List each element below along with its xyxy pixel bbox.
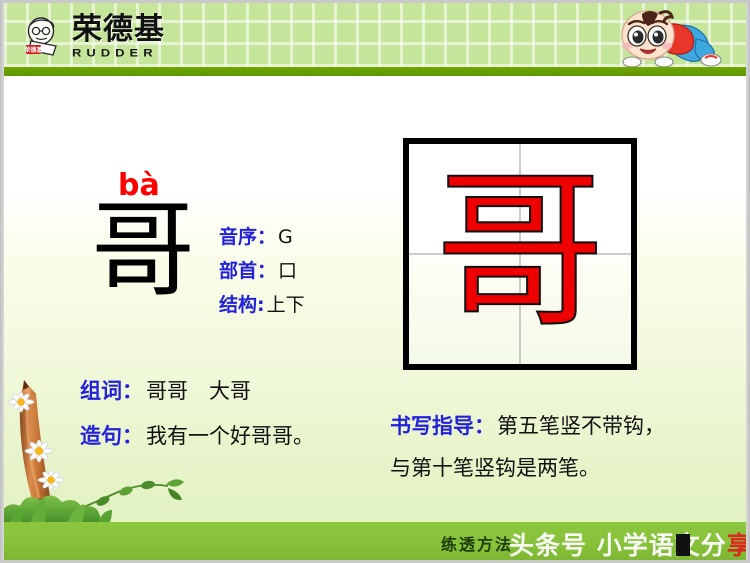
logo-text: 荣德基 RUDDER xyxy=(72,15,165,60)
header-divider-rule xyxy=(4,67,746,76)
usage-label: 组词： xyxy=(80,375,143,405)
info-row-phonetic-order: 音序： G xyxy=(219,222,305,256)
tianzige-writing-box: 哥 xyxy=(403,138,637,370)
footer-watermark: 头条号 小学语文分享 xyxy=(509,526,746,560)
guidance-label: 书写指导： xyxy=(390,410,495,440)
footer-bar: 练透方法 头条号 小学语文分享 xyxy=(4,522,746,560)
usage-value: 哥哥 大哥 xyxy=(146,375,251,405)
watermark-accent-text: 享 xyxy=(727,531,746,560)
daisy-flower-icon xyxy=(6,390,36,419)
usage-value: 我有一个好哥哥。 xyxy=(146,420,314,450)
info-label: 部首： xyxy=(219,256,276,283)
logo-english-name: RUDDER xyxy=(72,47,165,58)
info-label: 结构: xyxy=(219,290,265,317)
grid-character: 哥 xyxy=(409,144,631,364)
info-value: G xyxy=(278,226,293,248)
writing-guidance-block: 书写指导： 第五笔竖不带钩， 与第十笔竖钩是两笔。 xyxy=(390,410,740,482)
info-value: 口 xyxy=(278,256,297,283)
slide-border-right xyxy=(746,0,750,563)
usage-row-sentence: 造句： 我有一个好哥哥。 xyxy=(80,420,314,465)
info-value: 上下 xyxy=(267,290,305,317)
baby-mascot-icon xyxy=(612,5,724,67)
main-character: 哥 xyxy=(78,198,208,302)
daisy-flower-icon xyxy=(22,438,56,469)
guidance-text-first: 第五笔竖不带钩， xyxy=(497,410,665,440)
watermark-stamp-icon xyxy=(676,534,690,556)
header-banner: 荣德基 荣德基 RUDDER xyxy=(4,3,746,67)
slide-canvas: 荣德基 荣德基 RUDDER xyxy=(0,0,750,563)
slide-border-left xyxy=(0,0,4,563)
logo-chinese-name: 荣德基 xyxy=(72,15,165,45)
character-info-list: 音序： G 部首： 口 结构: 上下 xyxy=(219,222,305,324)
usage-block: 组词： 哥哥 大哥 造句： 我有一个好哥哥。 xyxy=(80,375,314,465)
info-row-structure: 结构: 上下 xyxy=(219,290,305,324)
guidance-line-1: 书写指导： 第五笔竖不带钩， xyxy=(390,410,740,452)
brand-logo: 荣德基 荣德基 RUDDER xyxy=(22,13,192,61)
info-row-radical: 部首： 口 xyxy=(219,256,305,290)
usage-label: 造句： xyxy=(80,420,143,450)
watermark-main-text: 头条号 小学语文分 xyxy=(509,531,727,560)
info-label: 音序： xyxy=(219,222,276,249)
daisy-flower-icon xyxy=(36,468,66,497)
svg-text:荣德基: 荣德基 xyxy=(23,46,43,54)
logo-mascot-icon: 荣德基 xyxy=(22,15,66,59)
slide-border-top xyxy=(0,0,750,3)
usage-row-words: 组词： 哥哥 大哥 xyxy=(80,375,314,420)
guidance-line-2: 与第十笔竖钩是两笔。 xyxy=(390,452,740,482)
footer-label: 练透方法 xyxy=(441,531,513,555)
